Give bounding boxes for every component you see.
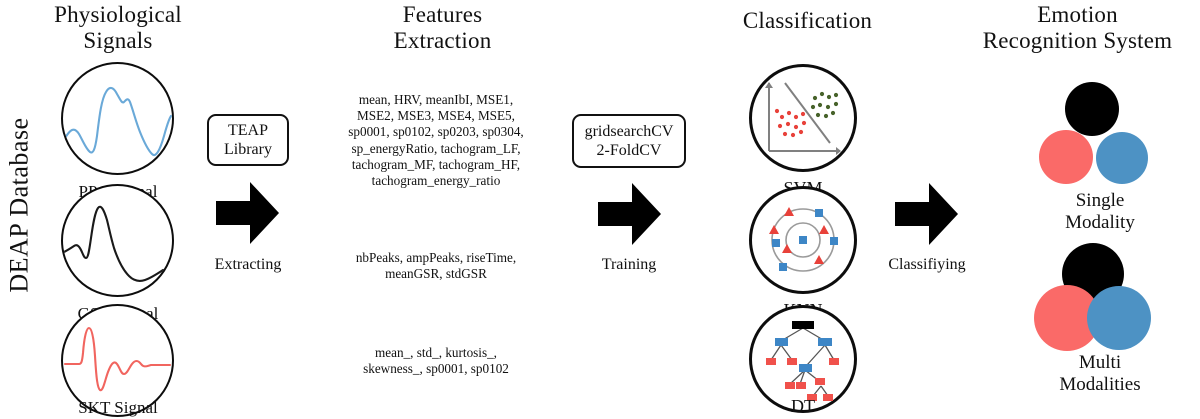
arrow-right-icon xyxy=(895,181,959,247)
ppg-features-text: mean, HRV, meanIbI, MSE1, MSE2, MSE3, MS… xyxy=(320,92,552,189)
multi-modalities-group xyxy=(1029,243,1169,353)
gsr-features-text: nbPeaks, ampPeaks, riseTime, meanGSR, st… xyxy=(320,250,552,282)
decision-tree-icon xyxy=(752,308,854,410)
skt-signal-caption: SKT Signal xyxy=(47,398,189,417)
classifying-arrow xyxy=(895,181,959,247)
deap-database-label: DEAP Database xyxy=(5,117,35,292)
svm-scatter-icon xyxy=(752,67,854,169)
arrow-right-icon xyxy=(216,180,280,246)
column-title-features: Features Extraction xyxy=(335,2,550,54)
knn-rings-icon xyxy=(752,189,854,291)
training-arrow xyxy=(598,181,662,247)
knn-circle xyxy=(749,186,857,294)
extracting-label: Extracting xyxy=(193,256,303,274)
arrow-right-icon xyxy=(598,181,662,247)
single-modality-red-circle xyxy=(1039,130,1093,184)
svm-circle xyxy=(749,64,857,172)
single-modality-black-circle xyxy=(1065,82,1119,136)
skt-features-text: mean_, std_, kurtosis_, skewness_, sp000… xyxy=(320,345,552,377)
figure-canvas: DEAP Database Physiological Signals Feat… xyxy=(0,0,1200,419)
gsr-signal-circle xyxy=(61,184,174,297)
teap-library-box[interactable]: TEAP Library xyxy=(207,114,289,166)
ppg-signal-circle xyxy=(61,62,174,175)
single-modality-blue-circle xyxy=(1096,132,1148,184)
column-title-classification: Classification xyxy=(700,8,915,34)
single-modality-label: Single Modality xyxy=(1020,190,1180,234)
multi-modalities-blue-circle xyxy=(1087,286,1151,350)
training-label: Training xyxy=(574,256,684,274)
column-title-signals: Physiological Signals xyxy=(18,2,218,54)
classifying-label: Classifiying xyxy=(872,256,982,274)
single-modality-group xyxy=(1035,82,1165,187)
extracting-arrow xyxy=(216,180,280,246)
column-title-system: Emotion Recognition System xyxy=(955,2,1200,54)
ppg-waveform-icon xyxy=(63,64,172,173)
dt-label: DT xyxy=(743,396,863,417)
multi-modalities-label: Multi Modalities xyxy=(1020,352,1180,396)
gsr-waveform-icon xyxy=(63,186,172,295)
gridsearch-box[interactable]: gridsearchCV 2-FoldCV xyxy=(572,114,686,168)
